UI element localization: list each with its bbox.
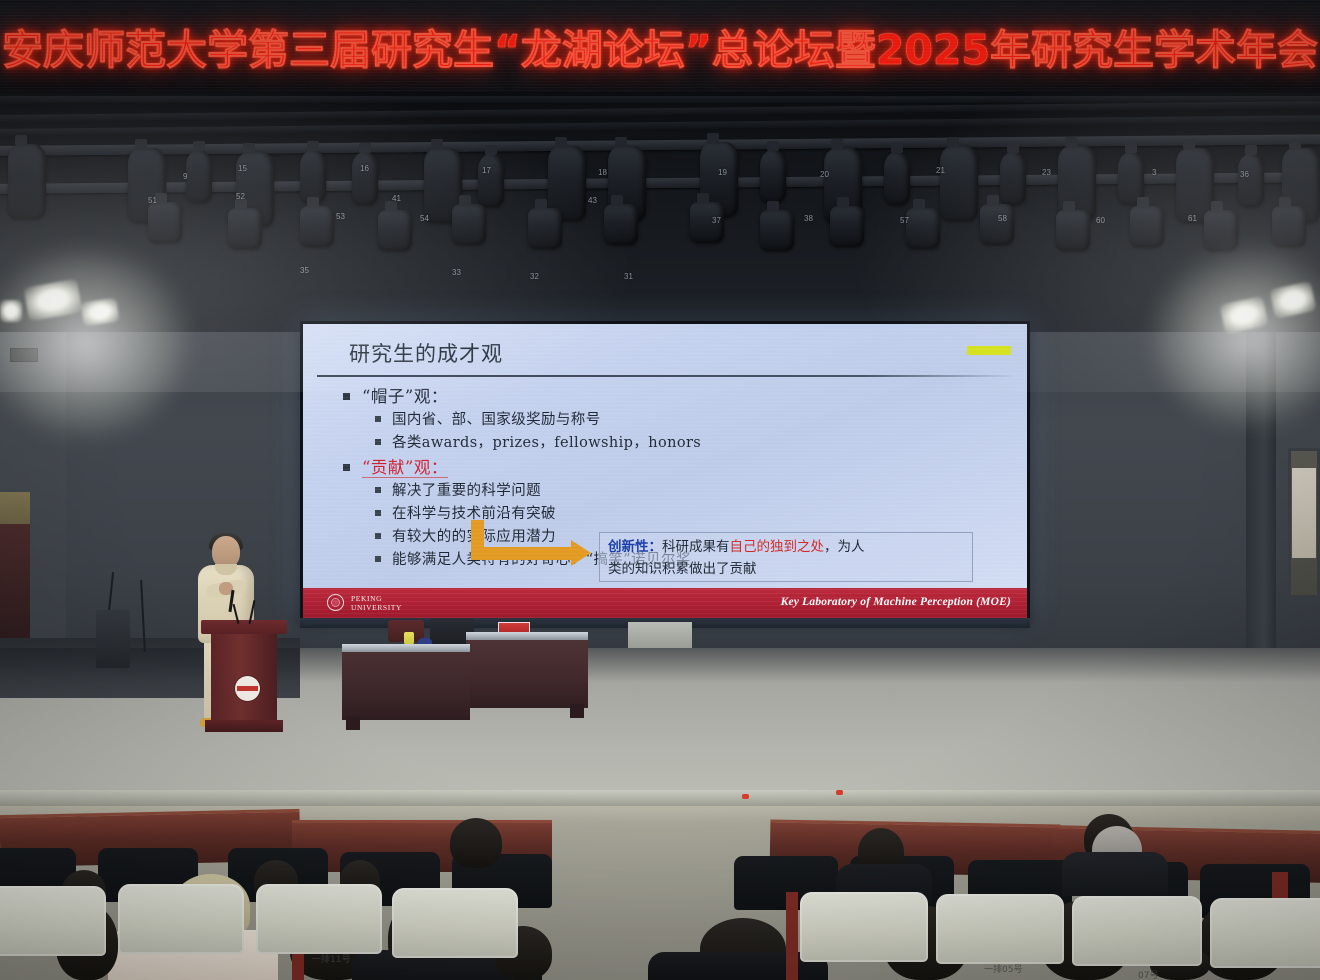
table-top-left — [342, 644, 470, 652]
light-number-label: 51 — [148, 196, 157, 205]
stage-light-beam — [81, 298, 120, 327]
bullet-square-icon — [375, 556, 381, 562]
table-leg — [570, 704, 584, 718]
callout-line-two: 类的知识积累做出了贡献 — [608, 561, 757, 577]
podium-body — [211, 634, 277, 720]
bullet-item: “帽子”观： — [343, 384, 1027, 409]
stage-light-fixture — [760, 150, 786, 202]
stage-light-beam — [0, 300, 22, 322]
callout-text-before: 科研成果有 — [662, 539, 730, 555]
podium-base — [205, 720, 283, 732]
audience-head — [450, 818, 502, 868]
projection-screen: 研究生的成才观 “帽子”观： 国内省、部、国家级奖励与称号 各类awards，p… — [300, 321, 1030, 621]
seat-front — [1210, 898, 1320, 968]
slide-title: 研究生的成才观 — [349, 338, 503, 368]
light-number-label: 58 — [998, 214, 1007, 223]
light-number-label: 36 — [1240, 170, 1249, 179]
light-number-label: 52 — [236, 192, 245, 201]
light-number-label: 16 — [360, 164, 369, 173]
light-number-label: 32 — [530, 272, 539, 281]
light-number-label: 61 — [1188, 214, 1197, 223]
stage-light-fixture — [300, 206, 334, 246]
stage-light-fixture — [452, 204, 486, 244]
stage-table — [342, 624, 588, 720]
light-number-label: 35 — [300, 266, 309, 275]
light-number-label: 3 — [1152, 168, 1156, 177]
ceiling-truss-area: 51 52 35 9 15 16 17 18 41 43 53 54 33 32… — [0, 92, 1320, 332]
stage-light-fixture — [8, 144, 46, 218]
seat-front — [118, 884, 244, 954]
institution-name: PEKING UNIVERSITY — [351, 594, 402, 612]
light-number-label: 57 — [900, 216, 909, 225]
bullet-square-icon — [375, 416, 381, 422]
callout-text-after: ，为人 — [824, 539, 865, 555]
stage-light-fixture — [148, 202, 182, 242]
callout-highlight: 自己的独到之处 — [730, 539, 825, 555]
stage-light-fixture — [830, 206, 864, 246]
seat-front — [256, 884, 382, 954]
stage-light-fixture — [940, 146, 978, 220]
slide-title-highlight-mark — [967, 346, 1011, 355]
light-number-label: 31 — [624, 272, 633, 281]
light-number-label: 53 — [336, 212, 345, 221]
light-number-label: 37 — [712, 216, 721, 225]
floor-marker-dot — [742, 794, 749, 799]
stage-light-fixture — [1238, 154, 1264, 206]
stage-light-fixture — [186, 150, 212, 202]
light-number-label: 9 — [183, 172, 187, 181]
bullet-item: 国内省、部、国家级奖励与称号 — [375, 409, 1027, 432]
light-number-label: 19 — [718, 168, 727, 177]
callout-label: 创新性： — [608, 539, 662, 555]
bullet-item: 解决了重要的科学问题 — [375, 480, 1027, 503]
stage-edge — [0, 790, 1320, 806]
lectern-podium — [207, 620, 281, 732]
seat-number-label: 07号 — [1138, 968, 1158, 980]
bullet-square-icon — [343, 393, 350, 400]
audience-shoulders — [1062, 852, 1168, 896]
institution-name-line2: UNIVERSITY — [351, 603, 402, 612]
bullet-square-icon — [375, 510, 381, 516]
seat-number-label: 一排05号 — [984, 962, 1022, 975]
stage-light-fixture — [1204, 210, 1238, 250]
light-number-label: 38 — [804, 214, 813, 223]
seat-front — [392, 888, 518, 958]
stage-light-fixture — [1056, 210, 1090, 250]
stage-light-fixture — [1272, 206, 1306, 246]
callout-arrow-icon — [471, 520, 601, 582]
light-number-label: 18 — [598, 168, 607, 177]
stage-light-fixture — [980, 204, 1014, 244]
bullet-text: 国内省、部、国家级奖励与称号 — [392, 412, 601, 428]
light-number-label: 33 — [452, 268, 461, 277]
stage-light-fixture — [906, 208, 940, 248]
bullet-item: 各类awards，prizes，fellowship，honors — [375, 432, 1027, 455]
seat-number-label: 一排11号 — [312, 952, 350, 965]
slide-callout-box: 创新性：科研成果有自己的独到之处，为人 类的知识积累做出了贡献 — [599, 532, 973, 582]
stage-light-fixture — [1130, 206, 1164, 246]
presentation-slide: 研究生的成才观 “帽子”观： 国内省、部、国家级奖励与称号 各类awards，p… — [303, 324, 1027, 618]
table-body-right — [466, 640, 588, 708]
bullet-text: 解决了重要的科学问题 — [392, 483, 541, 499]
wall-wood-panel — [0, 492, 30, 524]
stage-light-fixture — [1000, 152, 1026, 204]
light-number-label: 15 — [238, 164, 247, 173]
seat-front — [0, 886, 106, 956]
slide-footer-bar: PEKING UNIVERSITY Key Laboratory of Mach… — [303, 588, 1027, 618]
floor-marker-dot — [836, 790, 843, 795]
auditorium-stage-photo: 安庆师范大学第三届研究生“龙湖论坛”总论坛暨2025年研究生学术年会 — [0, 0, 1320, 980]
bullet-square-icon — [375, 487, 381, 493]
light-number-label: 23 — [1042, 168, 1051, 177]
light-number-label: 43 — [588, 196, 597, 205]
stage-light-fixture — [378, 210, 412, 250]
subwoofer-box — [628, 622, 692, 648]
light-number-label: 60 — [1096, 216, 1105, 225]
seat-front — [1072, 896, 1202, 966]
wall-dark-panel — [0, 524, 30, 644]
stage-light-fixture — [760, 210, 794, 250]
light-number-label: 21 — [936, 166, 945, 175]
table-leg — [346, 716, 360, 730]
peking-university-seal-icon — [327, 594, 344, 611]
bullet-text: “帽子”观： — [362, 387, 448, 406]
laboratory-name: Key Laboratory of Machine Perception (MO… — [781, 596, 1011, 608]
stage-light-fixture — [352, 152, 378, 204]
table-body-left — [342, 652, 470, 720]
light-number-label: 41 — [392, 194, 401, 203]
stage-light-fixture — [300, 150, 326, 202]
light-number-label: 54 — [420, 214, 429, 223]
led-banner-text: 安庆师范大学第三届研究生“龙湖论坛”总论坛暨2025年研究生学术年会 — [0, 16, 1320, 76]
stage-light-fixture — [228, 208, 262, 248]
table-top-right — [466, 632, 588, 640]
light-number-label: 20 — [820, 170, 829, 179]
podium-top — [201, 620, 287, 634]
university-emblem-icon — [235, 676, 260, 701]
seat-front — [800, 892, 928, 962]
bullet-square-icon — [375, 439, 381, 445]
wall-notice-board — [1292, 468, 1316, 558]
light-number-label: 17 — [482, 166, 491, 175]
stage-light-fixture — [884, 152, 910, 204]
stage-light-fixture — [604, 204, 638, 244]
stage-light-fixture — [478, 154, 504, 206]
institution-name-line1: PEKING — [351, 594, 402, 603]
bullet-square-icon — [375, 533, 381, 539]
bullet-item: “贡献”观： — [343, 455, 1027, 480]
bullet-square-icon — [343, 464, 350, 471]
stage-light-fixture — [528, 208, 562, 248]
led-banner: 安庆师范大学第三届研究生“龙湖论坛”总论坛暨2025年研究生学术年会 — [0, 0, 1320, 92]
seat-front — [936, 894, 1064, 964]
seat-side-trim — [786, 892, 798, 980]
slide-title-divider — [317, 375, 1017, 377]
stage-monitor-speaker — [96, 610, 130, 668]
bullet-text-emphasis: “贡献”观： — [362, 458, 448, 477]
bullet-text: 各类awards，prizes，fellowship，honors — [392, 435, 701, 451]
